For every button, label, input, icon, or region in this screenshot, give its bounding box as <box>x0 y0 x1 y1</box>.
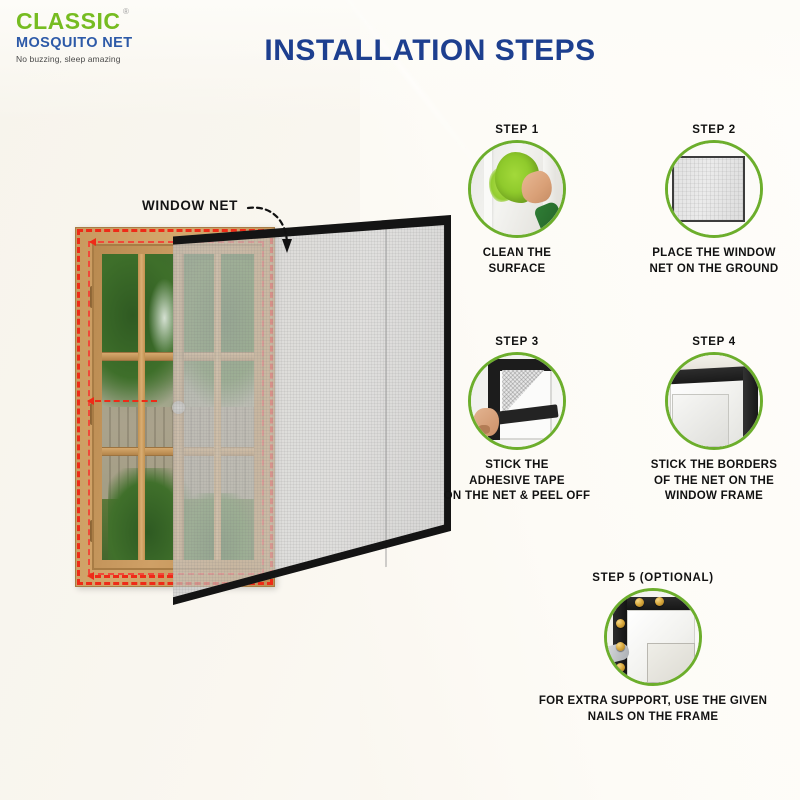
step-4-title: STEP 4 <box>634 336 794 348</box>
net-mesh-texture <box>173 215 451 605</box>
step-5-image <box>604 588 702 686</box>
perimeter-dash <box>95 400 157 402</box>
step-1-title: STEP 1 <box>437 124 597 136</box>
step-4-caption: STICK THE BORDERS OF THE NET ON THE WIND… <box>634 458 794 505</box>
perimeter-arrow-icon <box>89 238 96 246</box>
nail-icon <box>616 663 625 672</box>
step-5-title: STEP 5 (OPTIONAL) <box>528 572 778 584</box>
step-card-5: STEP 5 (OPTIONAL) FOR EXTRA SUPPORT, USE… <box>528 572 778 725</box>
brand-product-line: MOSQUITO NET <box>16 36 166 51</box>
step-2-title: STEP 2 <box>634 124 794 136</box>
net-square-icon <box>672 156 746 222</box>
step-4-image <box>665 352 763 450</box>
nail-icon <box>635 598 644 607</box>
window-inner-panel <box>672 394 729 447</box>
step-card-1: STEP 1 CLEAN THE SURFACE <box>437 124 597 277</box>
perimeter-arrow-icon <box>87 397 94 405</box>
window-inner-panel <box>647 643 695 683</box>
step-5-caption: FOR EXTRA SUPPORT, USE THE GIVEN NAILS O… <box>528 694 778 725</box>
installation-steps-infographic: CLASSIC ® MOSQUITO NET No buzzing, sleep… <box>0 0 800 800</box>
step-3-image <box>468 352 566 450</box>
nail-icon <box>616 619 625 628</box>
step-1-caption: CLEAN THE SURFACE <box>437 246 597 277</box>
finger <box>478 425 490 434</box>
step-card-2: STEP 2 PLACE THE WINDOW NET ON THE GROUN… <box>634 124 794 277</box>
step-2-image <box>665 140 763 238</box>
step-2-caption: PLACE THE WINDOW NET ON THE GROUND <box>634 246 794 277</box>
brand-tagline: No buzzing, sleep amazing <box>16 55 166 64</box>
perimeter-dash <box>95 575 173 578</box>
step-card-4: STEP 4 STICK THE BORDERS OF THE NET ON T… <box>634 336 794 505</box>
nail-icon <box>616 642 625 651</box>
window-net-label: WINDOW NET <box>142 198 238 213</box>
step-1-image <box>468 140 566 238</box>
step-3-title: STEP 3 <box>437 336 597 348</box>
page-title: INSTALLATION STEPS <box>240 34 620 68</box>
window-net-pointer-arrow-icon <box>246 203 306 255</box>
net-border-right <box>743 368 758 449</box>
hero-illustration <box>55 215 455 605</box>
step-card-3: STEP 3 STICK THE ADHESIVE TAPE ON THE NE… <box>437 336 597 505</box>
perimeter-arrow-icon <box>87 572 94 580</box>
brand-name-text: CLASSIC <box>16 8 120 34</box>
window-mullion-vertical <box>138 254 145 560</box>
step-3-caption: STICK THE ADHESIVE TAPE ON THE NET & PEE… <box>437 458 597 505</box>
net-fold-line <box>385 227 387 567</box>
brand-logo: CLASSIC ® MOSQUITO NET No buzzing, sleep… <box>16 10 166 63</box>
brand-name: CLASSIC ® <box>16 10 120 33</box>
registered-trademark-icon: ® <box>123 8 129 16</box>
mosquito-net-panel <box>173 215 451 605</box>
